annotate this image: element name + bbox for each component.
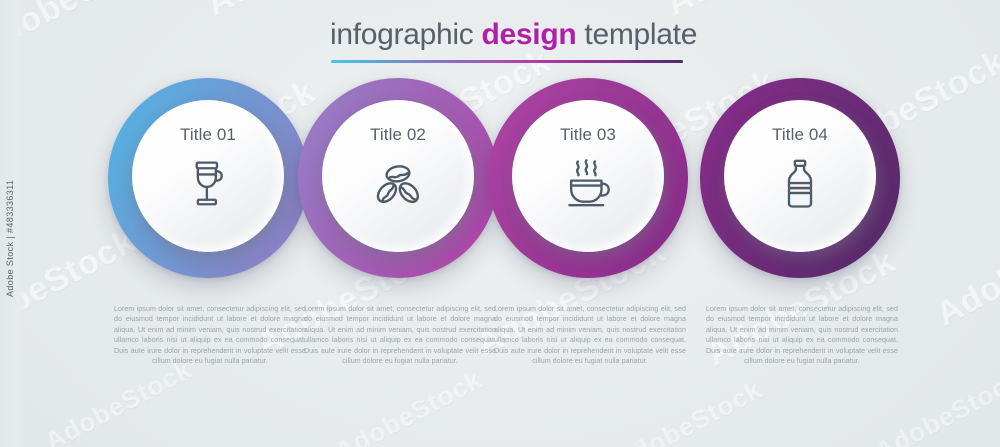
step-title-3: Title 03 — [560, 125, 616, 145]
title-gradient-rule — [331, 60, 683, 63]
step-disc-3[interactable]: Title 03 — [488, 78, 708, 298]
page-title-part1: infographic — [330, 18, 482, 51]
step-description-3: Lorem ipsum dolor sit amet, consectetur … — [494, 304, 686, 366]
step-disc-1[interactable]: Title 01 — [108, 78, 328, 298]
step-inner-disc-3[interactable]: Title 03 — [512, 100, 664, 252]
step-card-2[interactable]: Title 02Lorem ipsum dolor sit amet, cons… — [298, 78, 518, 438]
step-description-1: Lorem ipsum dolor sit amet, consectetur … — [114, 304, 306, 366]
step-disc-2[interactable]: Title 02 — [298, 78, 518, 298]
step-inner-disc-1[interactable]: Title 01 — [132, 100, 284, 252]
step-card-1[interactable]: Title 01Lorem ipsum dolor sit amet, cons… — [108, 78, 328, 438]
hot-coffee-cup-icon — [558, 154, 618, 214]
page-title-emphasis: design — [482, 18, 577, 51]
steps-row: Title 01Lorem ipsum dolor sit amet, cons… — [0, 78, 1000, 438]
step-title-1: Title 01 — [180, 125, 236, 145]
step-title-2: Title 02 — [370, 125, 426, 145]
water-bottle-icon — [770, 154, 830, 214]
step-inner-disc-2[interactable]: Title 02 — [322, 100, 474, 252]
irish-coffee-glass-icon — [178, 154, 238, 214]
step-card-4[interactable]: Title 04Lorem ipsum dolor sit amet, cons… — [700, 78, 920, 438]
infographic-canvas: AdobeStockAdobeStockAdobeStockAdobeStock… — [0, 0, 1000, 447]
step-description-4: Lorem ipsum dolor sit amet, consectetur … — [706, 304, 898, 366]
step-description-2: Lorem ipsum dolor sit amet, consectetur … — [304, 304, 496, 366]
watermark-text: AdobeStock — [880, 0, 1000, 4]
step-disc-4[interactable]: Title 04 — [700, 78, 920, 298]
coffee-beans-icon — [368, 154, 428, 214]
page-title: infographic design template — [330, 18, 697, 52]
step-title-4: Title 04 — [772, 125, 828, 145]
page-title-part3: template — [576, 18, 697, 51]
step-inner-disc-4[interactable]: Title 04 — [724, 100, 876, 252]
step-card-3[interactable]: Title 03Lorem ipsum dolor sit amet, cons… — [488, 78, 708, 438]
